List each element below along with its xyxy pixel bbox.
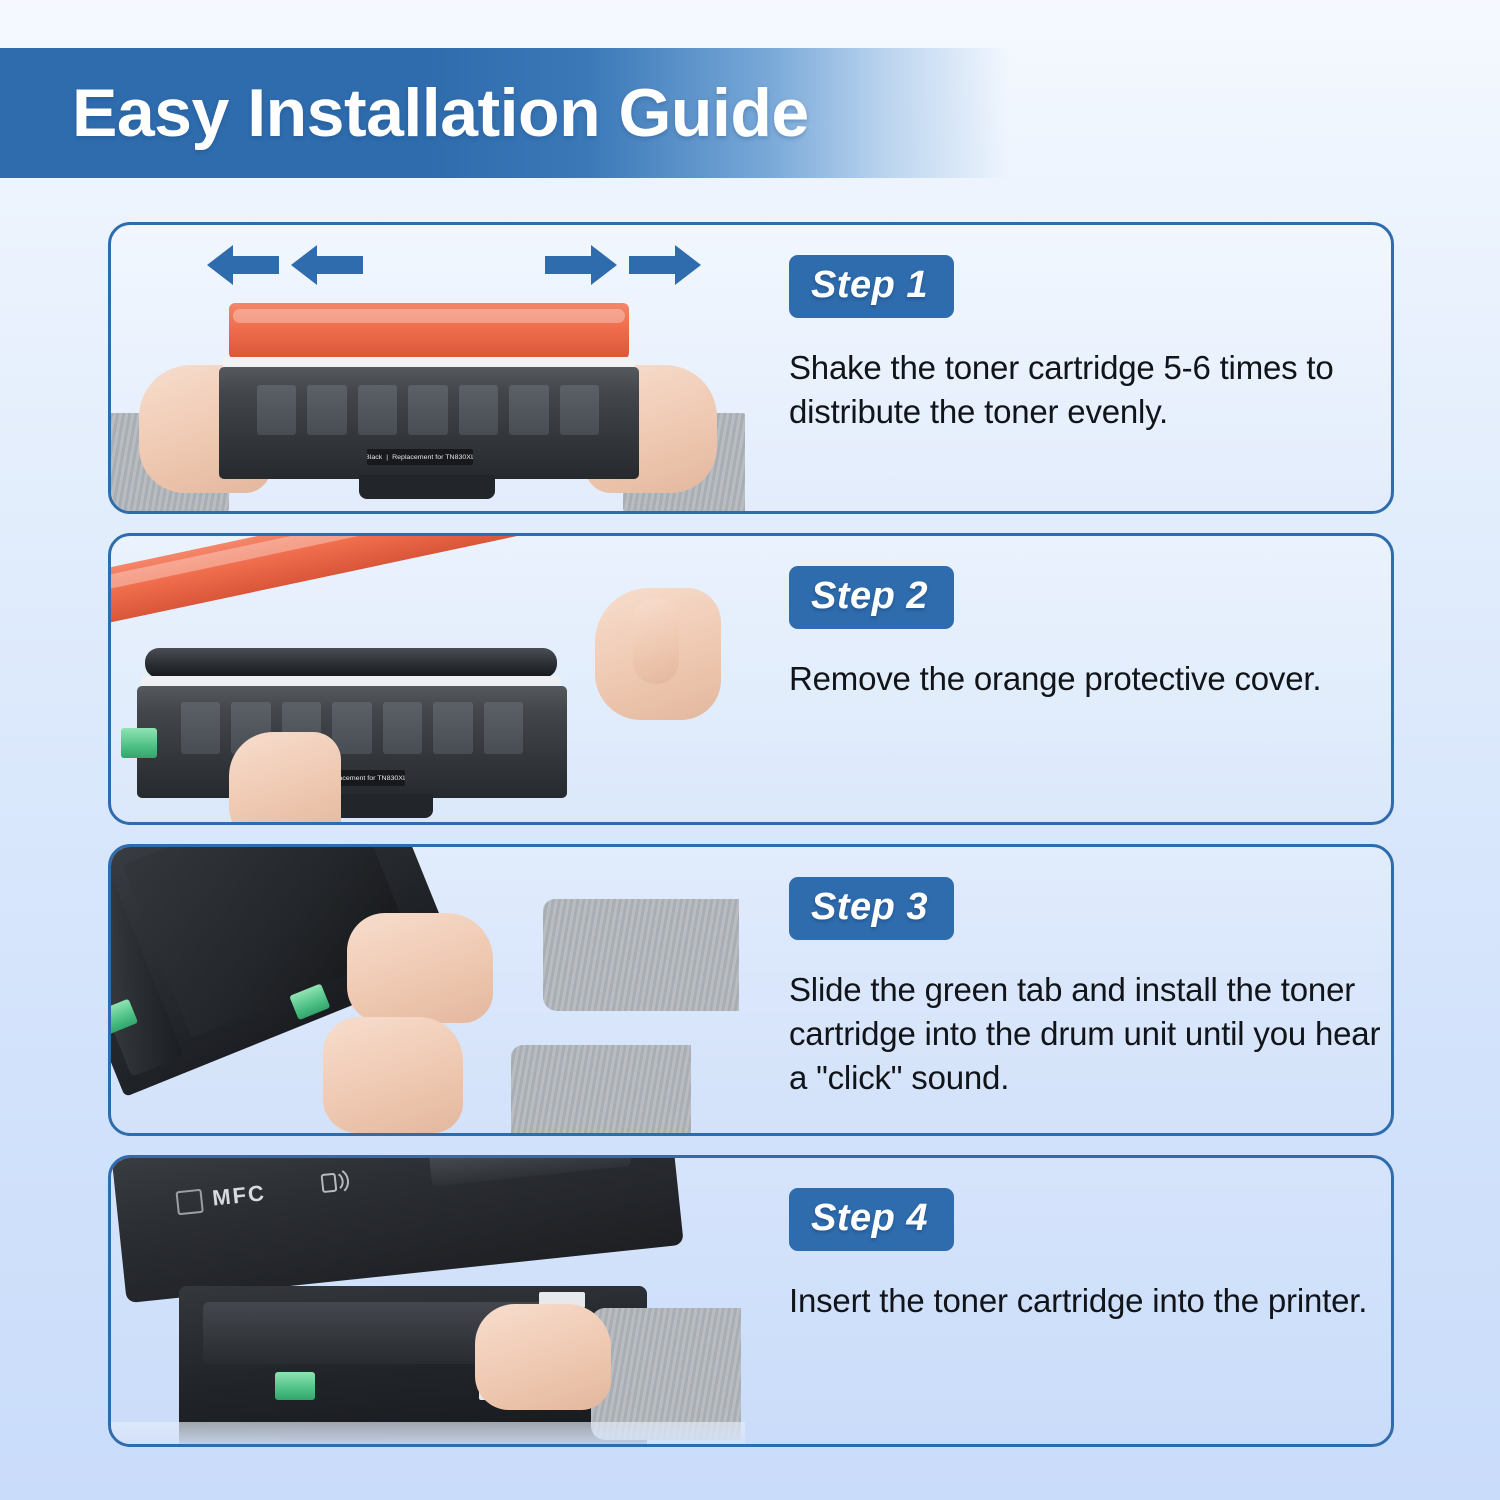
install-into-drum-illustration bbox=[111, 847, 745, 1133]
supporting-hand bbox=[229, 732, 341, 822]
step-4-content: Step 4 Insert the toner cartridge into t… bbox=[745, 1158, 1391, 1444]
arrow-right-icon bbox=[629, 243, 701, 287]
nfc-icon bbox=[320, 1167, 353, 1196]
step-1-description: Shake the toner cartridge 5-6 times to d… bbox=[789, 346, 1389, 434]
lower-sleeve bbox=[511, 1045, 691, 1133]
cartridge-label-color: Black bbox=[367, 454, 382, 460]
printer-control-panel bbox=[428, 1158, 632, 1187]
step-card-2: Black | Replacement for TN830XL Step 2 R… bbox=[108, 533, 1394, 825]
step-4-description: Insert the toner cartridge into the prin… bbox=[789, 1279, 1389, 1323]
step-1-badge: Step 1 bbox=[789, 255, 954, 318]
remove-cover-illustration: Black | Replacement for TN830XL bbox=[111, 536, 745, 822]
drum-roller bbox=[145, 648, 557, 678]
printer-top-cover: MFC bbox=[111, 1158, 684, 1303]
cartridge-label-separator: | bbox=[386, 454, 388, 460]
upper-sleeve bbox=[543, 899, 739, 1011]
paper-icon bbox=[175, 1189, 203, 1216]
orange-protective-cover bbox=[111, 536, 553, 624]
step-3-content: Step 3 Slide the green tab and install t… bbox=[745, 847, 1391, 1133]
cartridge-label: Black | Replacement for TN830XL bbox=[367, 449, 473, 465]
cartridge-label-model: Replacement for TN830XL bbox=[392, 454, 473, 460]
step-2-photo: Black | Replacement for TN830XL bbox=[111, 536, 745, 822]
desk-surface bbox=[111, 1422, 745, 1444]
step-4-photo: MFC bbox=[111, 1158, 745, 1444]
arrow-left-icon bbox=[207, 243, 279, 287]
toner-cartridge-body: Black | Replacement for TN830XL bbox=[137, 686, 567, 798]
step-card-1: Black | Replacement for TN830XL Step 1 S… bbox=[108, 222, 1394, 514]
lower-hand bbox=[323, 1017, 463, 1133]
orange-protective-cover bbox=[229, 303, 629, 359]
green-tab bbox=[121, 728, 157, 758]
upper-hand bbox=[347, 913, 493, 1023]
arrow-right-icon bbox=[545, 243, 617, 287]
pulling-thumb bbox=[633, 598, 679, 684]
insert-sleeve bbox=[591, 1308, 741, 1440]
header-banner: Easy Installation Guide bbox=[0, 48, 1010, 178]
printer-brand-label: MFC bbox=[211, 1180, 267, 1211]
step-3-description: Slide the green tab and install the tone… bbox=[789, 968, 1389, 1101]
insert-into-printer-illustration: MFC bbox=[111, 1158, 745, 1444]
insert-hand bbox=[475, 1304, 611, 1410]
steps-list: Black | Replacement for TN830XL Step 1 S… bbox=[108, 222, 1394, 1466]
toner-cartridge-body: Black | Replacement for TN830XL bbox=[219, 367, 639, 479]
page-title: Easy Installation Guide bbox=[0, 74, 809, 152]
step-card-4: MFC bbox=[108, 1155, 1394, 1447]
shake-cartridge-illustration: Black | Replacement for TN830XL bbox=[111, 225, 745, 511]
step-3-photo bbox=[111, 847, 745, 1133]
step-2-description: Remove the orange protective cover. bbox=[789, 657, 1389, 701]
step-4-badge: Step 4 bbox=[789, 1188, 954, 1251]
cartridge-handle bbox=[359, 475, 495, 499]
step-2-content: Step 2 Remove the orange protective cove… bbox=[745, 536, 1391, 822]
step-3-badge: Step 3 bbox=[789, 877, 954, 940]
arrow-left-icon bbox=[291, 243, 363, 287]
step-card-3: Step 3 Slide the green tab and install t… bbox=[108, 844, 1394, 1136]
step-1-photo: Black | Replacement for TN830XL bbox=[111, 225, 745, 511]
step-1-content: Step 1 Shake the toner cartridge 5-6 tim… bbox=[745, 225, 1391, 511]
step-2-badge: Step 2 bbox=[789, 566, 954, 629]
green-tab bbox=[275, 1372, 315, 1400]
